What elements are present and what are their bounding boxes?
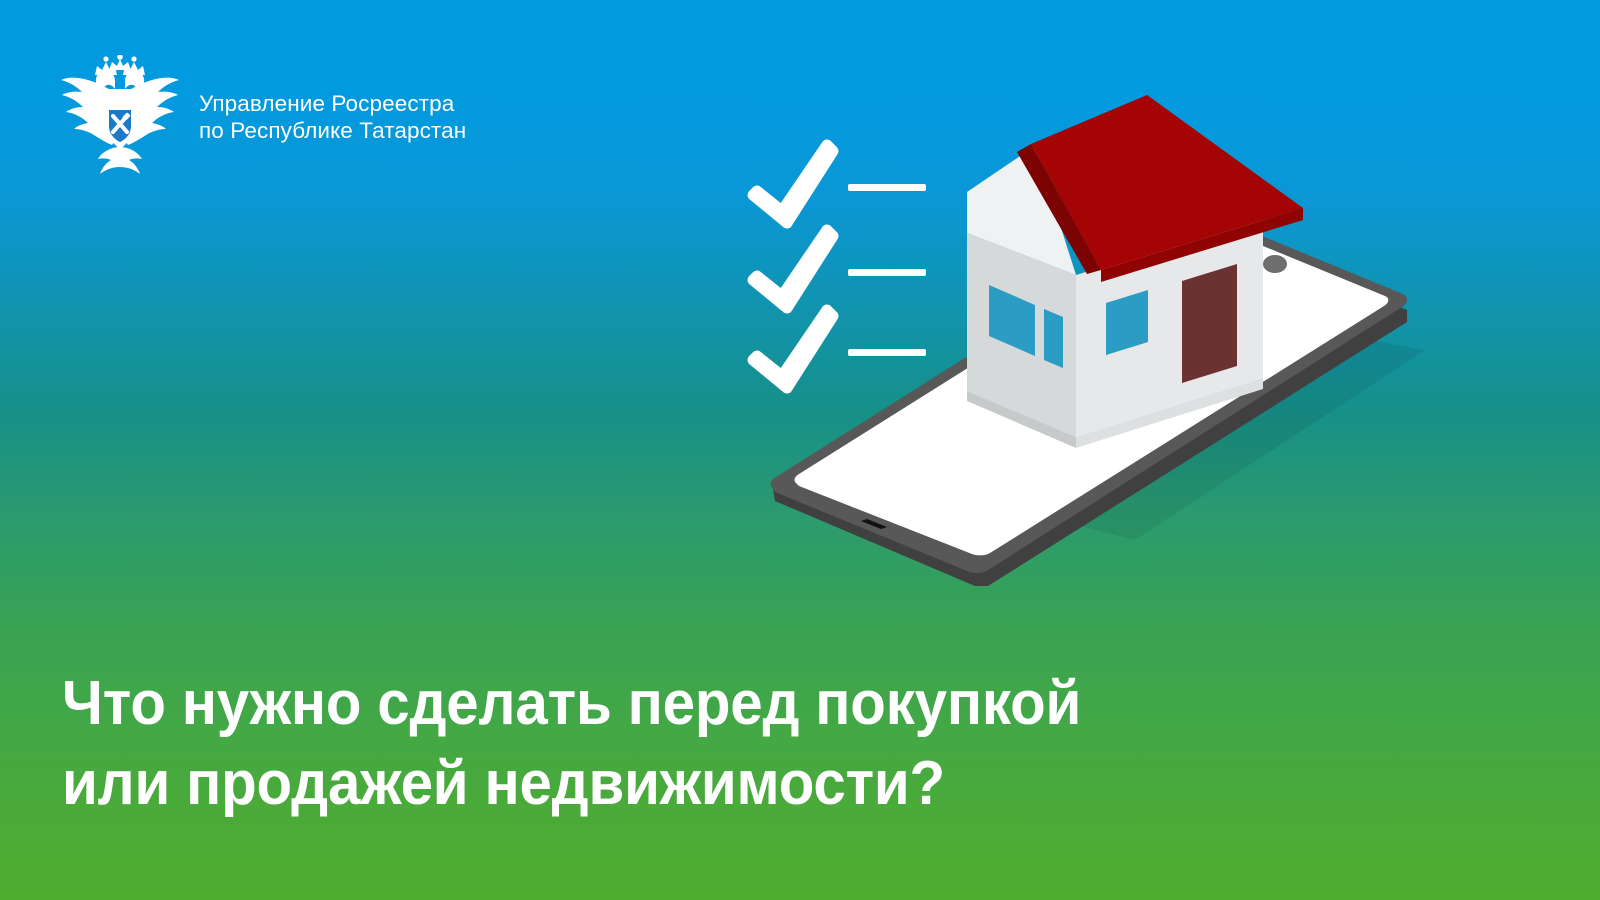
checklist-item-2 [753, 230, 926, 308]
page-title-line1: Что нужно сделать перед покупкой [62, 664, 1284, 744]
checklist-dash-2 [848, 269, 926, 276]
house-door [1182, 264, 1237, 383]
double-headed-eagle-emblem [57, 55, 183, 177]
checklist-dash-3 [848, 349, 926, 356]
check-icon-2 [753, 230, 833, 308]
check-icon-1 [753, 145, 833, 223]
check-icon-3 [753, 310, 833, 388]
checklist-dash-1 [848, 184, 926, 191]
checklist-group [753, 145, 926, 388]
checklist-item-3 [753, 310, 926, 388]
checklist-item-1 [753, 145, 926, 223]
organization-name: Управление Росреестра по Республике Тата… [199, 88, 466, 144]
phone-camera-icon [1263, 255, 1287, 273]
organization-name-line2: по Республике Татарстан [199, 117, 466, 144]
banner-root: Управление Росреестра по Республике Тата… [0, 0, 1600, 900]
hero-illustration [735, 100, 1455, 620]
page-title: Что нужно сделать перед покупкой или про… [62, 664, 1284, 824]
organization-logo: Управление Росреестра по Республике Тата… [57, 55, 466, 177]
house-window-side-2 [1044, 309, 1063, 368]
page-title-line2: или продажей недвижимости? [62, 744, 1284, 824]
organization-name-line1: Управление Росреестра [199, 90, 466, 117]
